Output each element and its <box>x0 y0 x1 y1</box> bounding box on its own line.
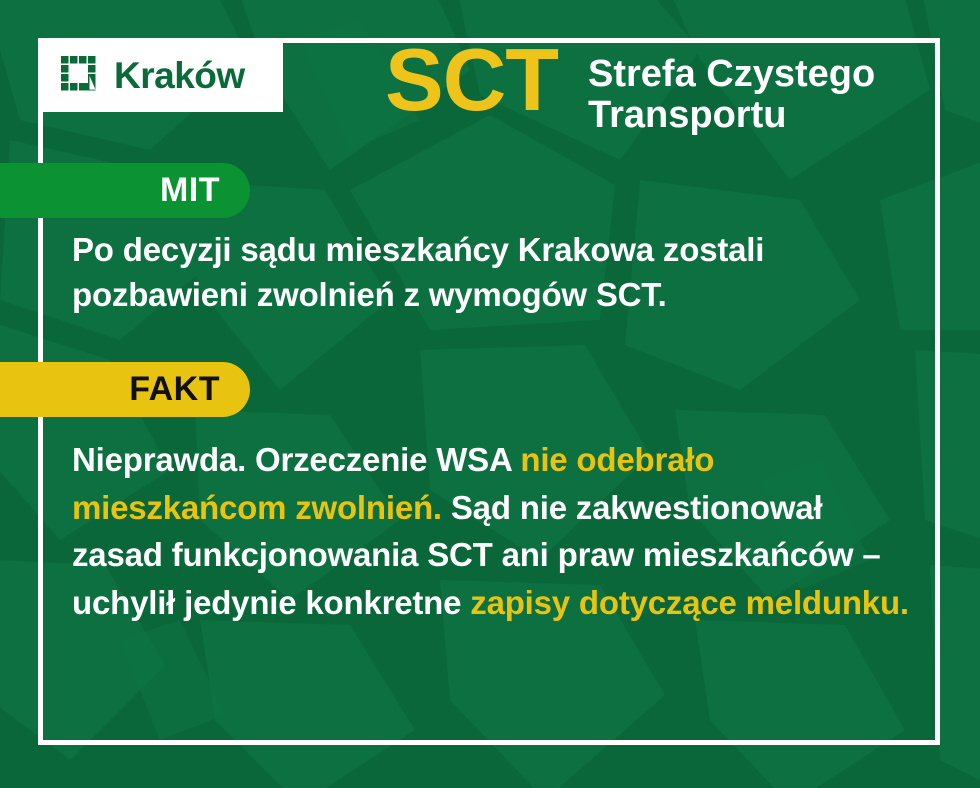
fact-badge-label: FAKT <box>129 370 220 409</box>
sct-infographic-poster: Kraków SCT Strefa Czystego Transportu MI… <box>0 0 980 788</box>
myth-text: Po decyzji sądu mieszkańcy Krakowa zosta… <box>72 228 872 318</box>
krakow-logo-lockup: Kraków <box>38 38 283 112</box>
myth-badge-label: MIT <box>160 171 220 210</box>
sct-full-name: Strefa Czystego Transportu <box>588 54 918 136</box>
city-name-label: Kraków <box>114 57 245 94</box>
krakow-city-grid-logo-icon <box>60 55 100 95</box>
sct-abbreviation: SCT <box>385 40 558 121</box>
fact-text-segment-3: zapisy dotyczące meldunku. <box>470 584 909 621</box>
fact-text: Nieprawda. Orzeczenie WSA nie odebrało m… <box>72 436 917 626</box>
fact-text-segment-0: Nieprawda. Orzeczenie WSA <box>72 441 520 478</box>
myth-badge: MIT <box>0 163 250 218</box>
fact-badge: FAKT <box>0 362 250 417</box>
sct-header: SCT Strefa Czystego Transportu <box>385 36 918 136</box>
